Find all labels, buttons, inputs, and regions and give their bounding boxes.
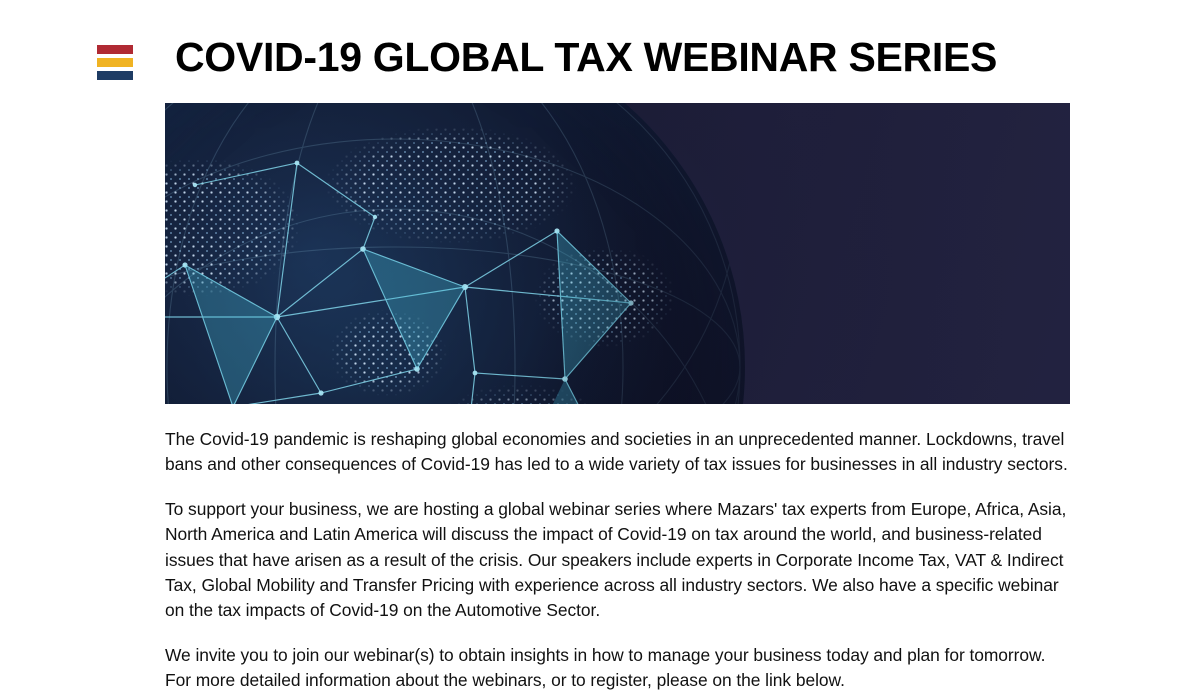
paragraph-details: To support your business, we are hosting… [165, 497, 1075, 624]
logo-bar-navy [97, 71, 133, 80]
header: COVID-19 GLOBAL TAX WEBINAR SERIES [0, 0, 1200, 100]
logo-bar-red [97, 45, 133, 54]
globe-network-image [165, 103, 1070, 404]
paragraph-invitation: We invite you to join our webinar(s) to … [165, 643, 1075, 694]
paragraph-intro: The Covid-19 pandemic is reshaping globa… [165, 427, 1075, 478]
logo-bar-yellow [97, 58, 133, 67]
slide-page: COVID-19 GLOBAL TAX WEBINAR SERIES [0, 0, 1200, 675]
body-copy: The Covid-19 pandemic is reshaping globa… [165, 427, 1075, 694]
page-title: COVID-19 GLOBAL TAX WEBINAR SERIES [175, 29, 997, 85]
mazars-tricolor-bars-icon [97, 45, 133, 80]
hero-vignette [165, 103, 1070, 404]
